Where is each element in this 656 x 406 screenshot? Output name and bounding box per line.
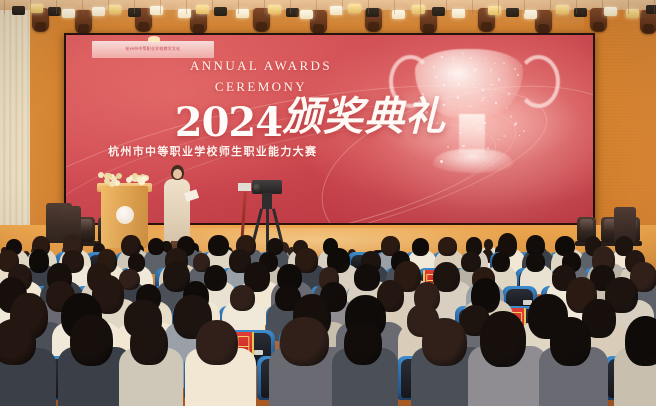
screen-year: 2024 <box>124 103 282 143</box>
attendee-head <box>422 318 467 366</box>
attendee-head <box>492 252 510 272</box>
ceiling-seam <box>342 0 343 14</box>
sparkle <box>448 73 450 75</box>
ceiling-par-light <box>178 9 191 18</box>
ceiling-par-light <box>62 9 75 18</box>
sparkle <box>514 68 516 70</box>
sparkle <box>474 87 475 88</box>
attendee-head <box>550 317 591 366</box>
ceiling-par-light <box>92 7 105 16</box>
ceiling-par-light <box>604 7 617 16</box>
attendee-head <box>29 249 49 273</box>
flower <box>98 172 104 178</box>
sparkle <box>447 146 448 147</box>
ceiling-seam <box>290 0 291 14</box>
sparkle <box>462 145 464 147</box>
sparkle <box>497 105 498 106</box>
ceiling-seam <box>550 0 551 14</box>
sparkle <box>521 65 522 66</box>
flower <box>105 173 111 179</box>
ceiling-par-light <box>348 4 361 13</box>
sparkle <box>472 83 473 84</box>
ceiling-seam <box>108 0 109 14</box>
attendee-head <box>438 237 457 256</box>
podium-emblem <box>116 206 134 224</box>
ceiling-par-light <box>452 9 465 18</box>
attendee-head <box>526 252 546 272</box>
sparkle <box>498 78 500 80</box>
ceiling-seam <box>394 0 395 14</box>
presenter-face <box>173 169 182 179</box>
sparkle <box>462 52 464 54</box>
attendee-head <box>230 285 255 312</box>
ceiling-par-light <box>268 5 281 14</box>
attendee-head <box>70 315 113 366</box>
ceiling-seam <box>368 0 369 14</box>
podium-flowers <box>96 172 154 185</box>
ceiling-par-light <box>214 7 227 16</box>
ceiling-par-light <box>412 5 425 14</box>
sparkle <box>506 107 508 109</box>
attendee-head <box>412 238 430 256</box>
ceiling-seam <box>420 0 421 14</box>
sparkle <box>450 159 451 160</box>
ceiling-par-light <box>108 5 121 14</box>
screen-english-line2: CEREMONY <box>150 79 371 95</box>
trophy-handle-right <box>517 55 560 108</box>
attendee-head <box>130 321 168 365</box>
sparkle <box>458 83 460 85</box>
ceiling-par-light <box>488 6 501 15</box>
trophy-base <box>433 149 513 173</box>
ceiling-par-light <box>524 10 537 19</box>
screen-english-line1: ANNUAL AWARDS <box>150 58 371 74</box>
sparkle <box>492 161 493 162</box>
sparkle <box>510 102 511 103</box>
ceiling-par-light <box>300 10 313 19</box>
ceiling-par-light <box>150 6 163 15</box>
attendee-head <box>204 265 227 291</box>
sparkle <box>519 135 520 136</box>
screen-logo-text: 杭州市中等职业学校教学文化 <box>92 41 213 58</box>
ceiling-seam <box>446 0 447 14</box>
ceiling-seam <box>264 0 265 14</box>
sparkle <box>523 130 525 132</box>
ceiling-par-light <box>506 8 519 17</box>
ceiling-seam <box>524 0 525 14</box>
ceiling-seam <box>238 0 239 14</box>
camera-lens <box>253 183 262 192</box>
attendee-head <box>0 319 36 365</box>
sparkle <box>435 76 437 78</box>
camera-label-tag <box>238 183 251 191</box>
seat-number-tag <box>254 350 263 355</box>
attendee-head-far <box>484 239 493 250</box>
attendee-head <box>280 317 329 366</box>
attendee-head <box>625 316 656 366</box>
sparkle <box>515 122 517 124</box>
attendee-head <box>354 264 380 291</box>
ceiling-seam <box>134 0 135 14</box>
sparkle <box>452 57 455 60</box>
ceiling-seam <box>602 0 603 14</box>
sparkle <box>498 139 499 140</box>
sparkle <box>510 115 513 118</box>
screen-subtitle: 杭州市中等职业学校师生职业能力大赛 <box>108 143 435 159</box>
attendee-head <box>148 238 164 255</box>
ceiling-seam <box>628 0 629 14</box>
ceiling-seam <box>4 0 5 14</box>
sparkle <box>494 119 495 120</box>
tripod-head <box>262 193 272 209</box>
ceiling-seam <box>316 0 317 14</box>
sparkle <box>491 69 492 70</box>
sparkle <box>490 71 491 72</box>
sparkle <box>443 84 445 86</box>
ceiling-seam <box>654 0 655 14</box>
ceiling-par-light <box>30 4 43 13</box>
ceiling-seam <box>160 0 161 14</box>
sparkle <box>487 147 489 149</box>
ceiling-par-light <box>286 8 299 17</box>
attendee-head <box>196 320 238 365</box>
ceiling-par-light <box>48 7 61 16</box>
sparkle <box>475 68 477 70</box>
screen-chinese-title: 颁奖典礼 <box>282 97 493 137</box>
ceiling-par-light <box>556 5 569 14</box>
attendee-head <box>344 321 383 365</box>
ceiling-moving-light <box>75 10 92 34</box>
attendee-head <box>480 311 526 367</box>
sparkle <box>433 66 435 68</box>
ceiling-seam <box>30 0 31 14</box>
sparkle <box>440 160 443 163</box>
ceiling-seam <box>56 0 57 14</box>
ceiling-seam <box>82 0 83 14</box>
ceiling-seam <box>186 0 187 14</box>
attendee-head <box>208 235 229 257</box>
sparkle <box>468 75 470 77</box>
ceiling-seam <box>576 0 577 14</box>
ceiling-seam <box>472 0 473 14</box>
ceiling-par-light <box>432 7 445 16</box>
sparkle <box>495 102 497 104</box>
sparkle <box>503 135 505 137</box>
flower <box>141 176 147 182</box>
ceiling-seam <box>498 0 499 14</box>
sparkle <box>517 74 519 76</box>
auditorium-photo: 杭州市中等职业学校教学文化 ANNUAL AWARDS CEREMONY 202… <box>0 0 656 406</box>
ceiling-seam <box>212 0 213 14</box>
flower <box>116 173 122 179</box>
ceiling-par-light <box>12 6 25 15</box>
ceiling-par-light <box>196 5 209 14</box>
